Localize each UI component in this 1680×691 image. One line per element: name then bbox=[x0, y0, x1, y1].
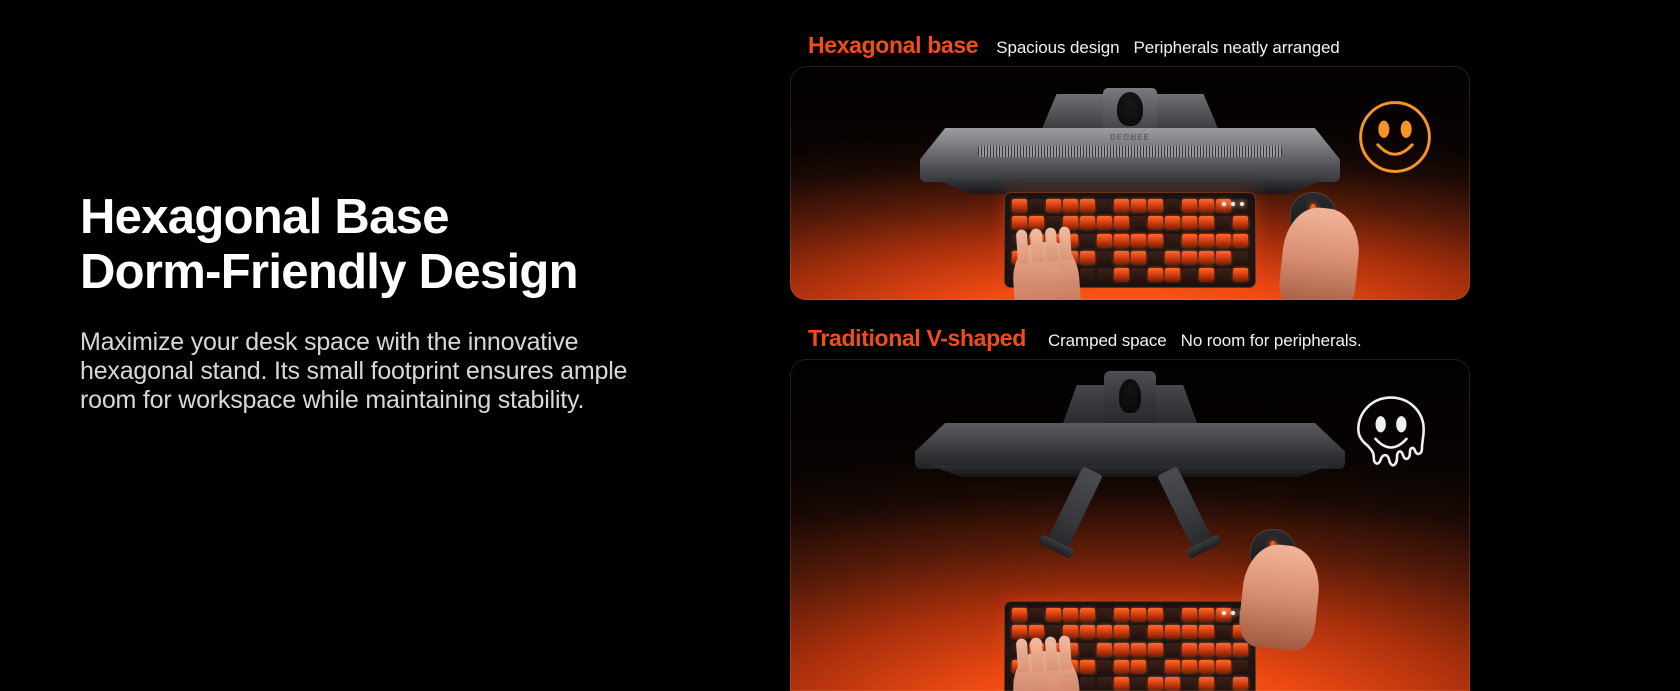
keyboard-row bbox=[1012, 199, 1248, 212]
v-stand-wing-left bbox=[1063, 385, 1109, 423]
v-stand-leg-right bbox=[1157, 466, 1214, 551]
monitor-rear-shell bbox=[915, 423, 1345, 469]
caption-title-traditional: Traditional V-shaped bbox=[808, 325, 1026, 352]
smiley-face-icon bbox=[1352, 94, 1438, 180]
keyboard-row bbox=[1012, 608, 1248, 621]
melting-smiley-face-icon bbox=[1348, 389, 1434, 475]
headline-line-1: Hexagonal Base bbox=[80, 190, 740, 245]
comparison-column: Hexagonal base Spacious design Periphera… bbox=[790, 0, 1680, 691]
caption-tag: Cramped space bbox=[1048, 331, 1167, 351]
monitor-brand-logo: DEGREE bbox=[1110, 132, 1150, 141]
caption-tag: Spacious design bbox=[996, 38, 1119, 58]
caption-tag: No room for peripherals. bbox=[1181, 331, 1362, 351]
headline-line-2: Dorm-Friendly Design bbox=[80, 245, 740, 300]
body-line-3: room for workspace while maintaining sta… bbox=[80, 386, 740, 415]
promo-banner: Hexagonal Base Dorm-Friendly Design Maxi… bbox=[0, 0, 1680, 691]
monitor-v-shaped-stand bbox=[915, 371, 1345, 541]
hand-fingers bbox=[1016, 226, 1072, 264]
body-line-1: Maximize your desk space with the innova… bbox=[80, 328, 740, 357]
caption-traditional: Traditional V-shaped Cramped space No ro… bbox=[808, 325, 1362, 352]
monitor-vent-grille bbox=[978, 146, 1282, 157]
caption-tag: Peripherals neatly arranged bbox=[1134, 38, 1340, 58]
v-stand-leg-left bbox=[1046, 466, 1103, 551]
body-paragraph: Maximize your desk space with the innova… bbox=[80, 300, 740, 415]
hand-fingers bbox=[1016, 635, 1072, 673]
caption-tags-traditional: Cramped space No room for peripherals. bbox=[1048, 331, 1362, 351]
copy-block: Hexagonal Base Dorm-Friendly Design Maxi… bbox=[80, 190, 740, 415]
monitor-bottom-lip bbox=[929, 465, 1331, 477]
caption-tags-hexagonal: Spacious design Peripherals neatly arran… bbox=[996, 38, 1339, 58]
scene-panel-hexagonal: DEGREE bbox=[790, 66, 1470, 300]
caption-title-hexagonal: Hexagonal base bbox=[808, 32, 978, 59]
scene-panel-traditional bbox=[790, 359, 1470, 691]
caption-hexagonal: Hexagonal base Spacious design Periphera… bbox=[808, 32, 1340, 59]
body-line-2: hexagonal stand. Its small footprint ens… bbox=[80, 357, 740, 386]
keyboard-indicator-leds bbox=[1222, 202, 1244, 206]
v-stand-wing-right bbox=[1151, 385, 1197, 423]
page-title: Hexagonal Base Dorm-Friendly Design bbox=[80, 190, 740, 300]
